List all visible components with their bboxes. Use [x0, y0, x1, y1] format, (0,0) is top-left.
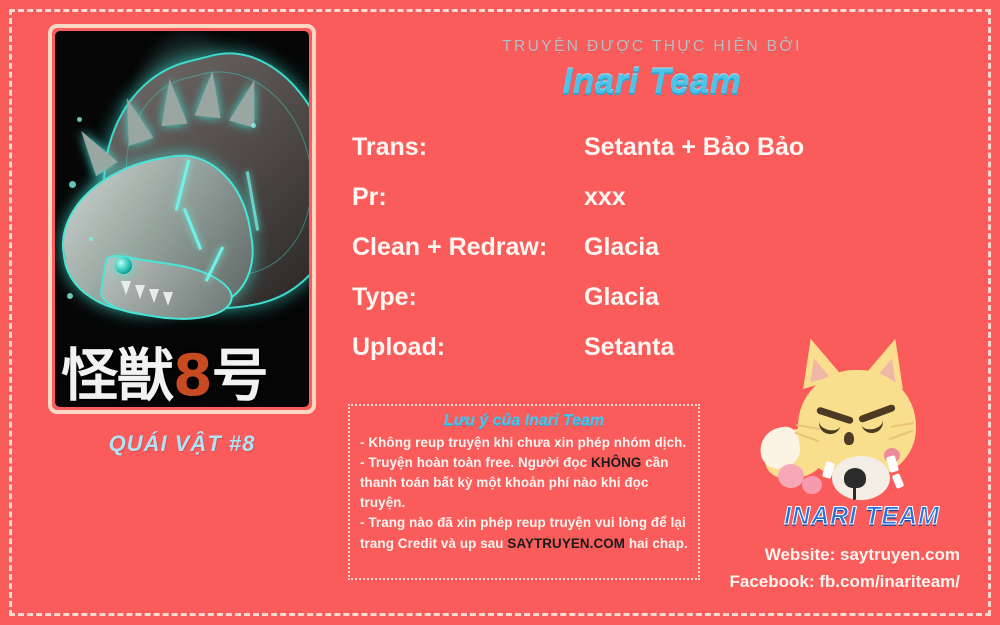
credit-row: Trans: Setanta + Bảo Bảo	[352, 133, 952, 171]
inari-team-logo-text: INARI TEAM	[772, 502, 952, 531]
kaiju-eye	[115, 257, 132, 274]
credit-row: Pr: xxx	[352, 183, 952, 221]
kaiju-speck-5	[251, 123, 256, 128]
cover-subtitle: QUÁI VẬT #8	[48, 431, 316, 457]
cover-title-jp-number: 8	[173, 343, 212, 407]
cover-title-jp-suffix: 号	[212, 343, 268, 407]
credit-value-type: Glacia	[584, 283, 659, 312]
credit-page: 怪獣8号 QUÁI VẬT #8 TRUYỆN ĐƯỢC THỰC HIỆN B…	[0, 0, 1000, 625]
notice-box: Lưu ý của Inari Team - Không reup truyện…	[348, 404, 700, 580]
kaiju-speck-3	[89, 237, 93, 241]
sakura-flower-icon	[778, 464, 804, 488]
credit-value-upload: Setanta	[584, 333, 674, 362]
notice-line-2-part-c: cần	[641, 455, 668, 470]
kaiju-tooth-1	[121, 281, 131, 295]
credit-row: Type: Glacia	[352, 283, 952, 321]
fox-paw-line	[853, 484, 856, 500]
notice-line-2-part-a: - Truyện hoàn toàn free. Người đọc	[360, 455, 591, 470]
notice-emphasis-khong: KHÔNG	[591, 455, 641, 470]
kaiju-speck-1	[77, 117, 82, 122]
sparkle-icon	[892, 473, 905, 489]
team-brand-title: Inari Team	[352, 62, 952, 102]
kaiju-spike-4	[195, 70, 226, 118]
credit-value-pr: xxx	[584, 183, 626, 212]
credit-label-upload: Upload:	[352, 333, 584, 362]
credit-header: TRUYỆN ĐƯỢC THỰC HIỆN BỞI Inari Team	[352, 38, 952, 102]
manga-cover-artwork: 怪獣8号	[55, 31, 309, 407]
kaiju-speck-2	[69, 181, 76, 188]
kaiju-tooth-4	[163, 292, 173, 306]
kaiju-tooth-2	[135, 285, 145, 299]
notice-line-2: - Truyện hoàn toàn free. Người đọc KHÔNG…	[360, 453, 688, 473]
notice-line-6: trang Credit và up sau SAYTRUYEN.COM hai…	[360, 534, 688, 554]
sakura-flower-icon	[802, 476, 822, 494]
cover-title-jp-prefix: 怪獣	[61, 343, 173, 407]
fox-snout	[844, 432, 854, 445]
credit-value-clean-redraw: Glacia	[584, 233, 659, 262]
credit-label-type: Type:	[352, 283, 584, 312]
notice-line-6-part-a: trang Credit và up sau	[360, 536, 507, 551]
kaiju-tooth-3	[149, 289, 159, 303]
credits-list: Trans: Setanta + Bảo Bảo Pr: xxx Clean +…	[352, 133, 952, 383]
fox-mascot-icon	[772, 352, 952, 502]
credit-label-pr: Pr:	[352, 183, 584, 212]
notice-emphasis-saytruyen: SAYTRUYEN.COM	[507, 536, 625, 551]
credit-kicker: TRUYỆN ĐƯỢC THỰC HIỆN BỞI	[352, 38, 952, 56]
cover-column: 怪獣8号 QUÁI VẬT #8	[48, 24, 332, 457]
contact-facebook[interactable]: Facebook: fb.com/inariteam/	[660, 572, 960, 592]
credit-row: Clean + Redraw: Glacia	[352, 233, 952, 271]
credit-label-trans: Trans:	[352, 133, 584, 162]
notice-title: Lưu ý của Inari Team	[360, 412, 688, 430]
cover-title-japanese: 怪獣8号	[61, 348, 309, 405]
credit-label-clean-redraw: Clean + Redraw:	[352, 233, 584, 262]
credit-value-trans: Setanta + Bảo Bảo	[584, 133, 804, 162]
notice-line-5: - Trang nào đã xin phép reup truyện vui …	[360, 513, 688, 533]
contact-website[interactable]: Website: saytruyen.com	[660, 545, 960, 565]
kaiju-spike-3	[157, 78, 188, 126]
kaiju-speck-4	[67, 293, 73, 299]
notice-line-3: thanh toán bất kỳ một khoản phí nào khi …	[360, 473, 688, 493]
notice-line-1: - Không reup truyện khi chưa xin phép nh…	[360, 433, 688, 453]
contact-info: Website: saytruyen.com Facebook: fb.com/…	[660, 545, 960, 599]
manga-cover-frame: 怪獣8号	[48, 24, 316, 414]
notice-line-4: truyện.	[360, 493, 688, 513]
